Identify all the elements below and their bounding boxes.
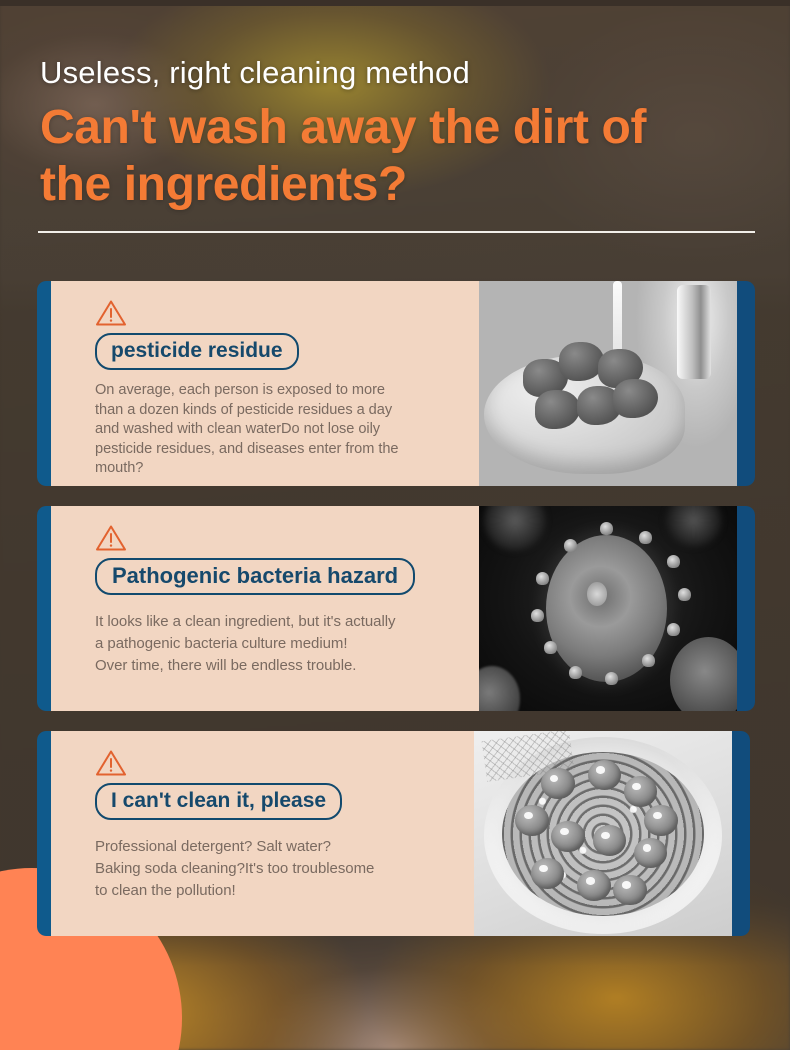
photo-sink-scene xyxy=(479,281,737,486)
headline-line-2: the ingredients? xyxy=(40,156,770,213)
background-virus-blur-left xyxy=(484,506,546,551)
card-text-panel: I can't clean it, please Professional de… xyxy=(51,731,474,936)
warning-triangle-icon xyxy=(95,524,127,552)
card-title-badge: Pathogenic bacteria hazard xyxy=(95,558,415,595)
card-left-rail xyxy=(37,281,51,486)
card-photo-strawberries xyxy=(479,281,737,486)
card-left-rail xyxy=(37,731,51,936)
photo-bowl-scene xyxy=(474,731,732,936)
card-list: pesticide residue On average, each perso… xyxy=(0,281,790,956)
card-photo-bowl xyxy=(474,731,732,936)
card-text-panel: Pathogenic bacteria hazard It looks like… xyxy=(51,506,479,711)
card-body-text: It looks like a clean ingredient, but it… xyxy=(95,611,463,677)
card-body-text: On average, each person is exposed to mo… xyxy=(95,381,463,479)
card-text-panel: pesticide residue On average, each perso… xyxy=(51,281,479,486)
card-pesticide-residue[interactable]: pesticide residue On average, each perso… xyxy=(37,281,755,486)
strawberries-group xyxy=(520,338,670,430)
header-eyebrow: Useless, right cleaning method xyxy=(40,54,770,92)
faucet-shape xyxy=(677,285,711,379)
header-divider xyxy=(38,231,755,233)
card-right-rail xyxy=(737,281,755,486)
header-headline: Can't wash away the dirt of the ingredie… xyxy=(40,99,770,213)
header: Useless, right cleaning method Can't was… xyxy=(40,54,770,213)
card-body-text: Professional detergent? Salt water? Baki… xyxy=(95,836,458,902)
card-right-rail xyxy=(732,731,750,936)
card-cannot-clean[interactable]: I can't clean it, please Professional de… xyxy=(37,731,750,936)
card-title-badge: pesticide residue xyxy=(95,333,299,370)
photo-virus-scene xyxy=(479,506,737,711)
poster-page: Useless, right cleaning method Can't was… xyxy=(0,0,790,1050)
top-edge-strip xyxy=(0,0,790,6)
card-title-badge: I can't clean it, please xyxy=(95,783,342,820)
secondary-virus xyxy=(670,637,737,711)
headline-line-1: Can't wash away the dirt of xyxy=(40,99,770,156)
warning-triangle-icon xyxy=(95,299,127,327)
card-left-rail xyxy=(37,506,51,711)
card-right-rail xyxy=(737,506,755,711)
card-pathogenic-bacteria[interactable]: Pathogenic bacteria hazard It looks like… xyxy=(37,506,755,711)
background-virus-blur-right xyxy=(665,506,722,547)
tertiary-virus xyxy=(479,666,520,711)
warning-triangle-icon xyxy=(95,749,127,777)
card-photo-virus xyxy=(479,506,737,711)
